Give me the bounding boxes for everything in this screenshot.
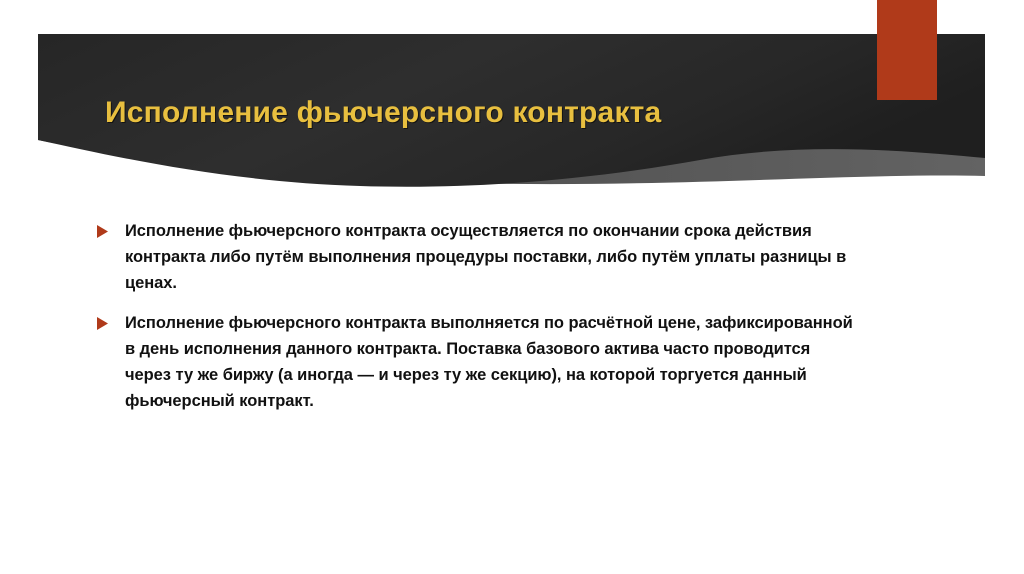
list-item: Исполнение фьючерсного контракта выполня… <box>95 310 855 414</box>
list-item-text: Исполнение фьючерсного контракта осущест… <box>125 218 855 296</box>
accent-bar <box>877 0 937 100</box>
page-title: Исполнение фьючерсного контракта <box>105 96 885 131</box>
list-item: Исполнение фьючерсного контракта осущест… <box>95 218 855 296</box>
triangle-right-icon <box>95 218 125 239</box>
presentation-slide: Исполнение фьючерсного контракта Исполне… <box>0 0 1024 574</box>
list-item-text: Исполнение фьючерсного контракта выполня… <box>125 310 855 414</box>
triangle-right-icon <box>95 310 125 331</box>
bullet-list: Исполнение фьючерсного контракта осущест… <box>95 218 855 428</box>
